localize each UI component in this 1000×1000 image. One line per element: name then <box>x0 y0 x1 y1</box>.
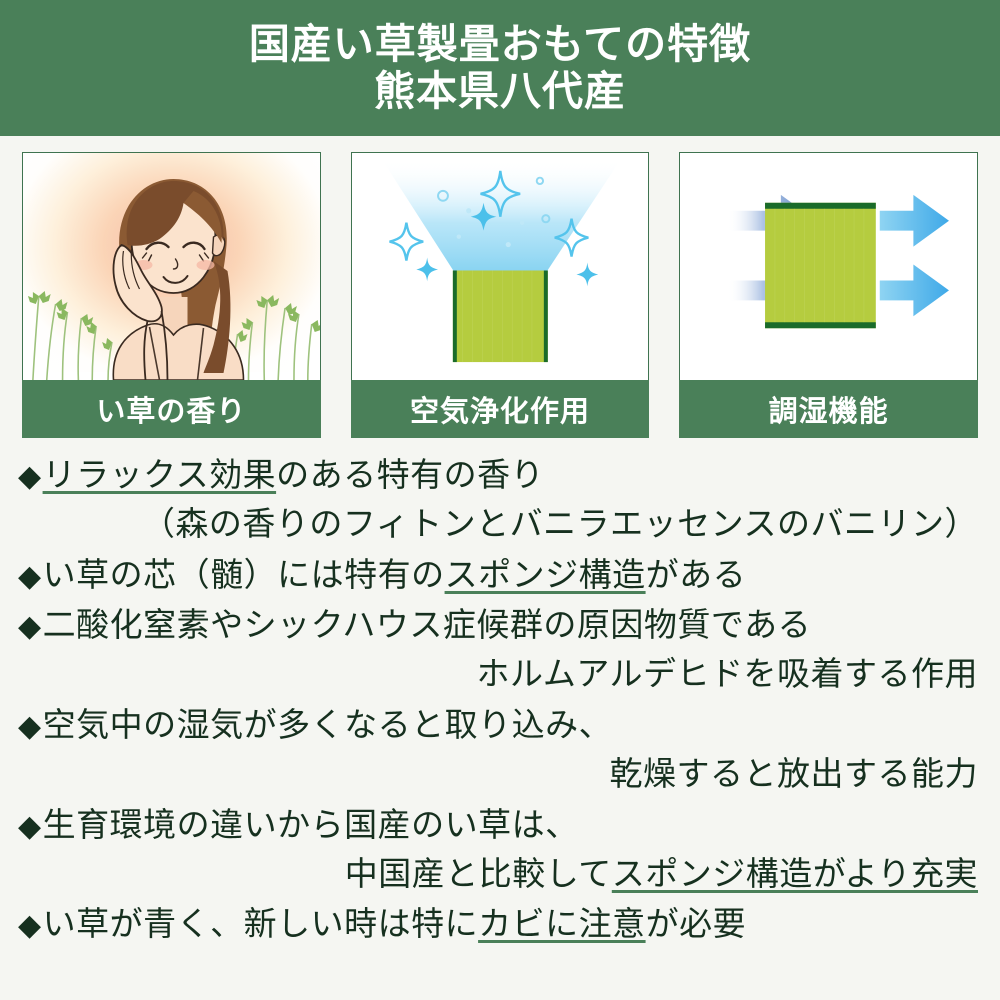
moisture-arrows-graphic <box>680 153 977 380</box>
bullet-5-highlight: スポンジ構造がより充実 <box>612 857 978 893</box>
bullet-1-tail: のある特有の香り <box>276 458 544 494</box>
bullet-2-tail: がある <box>646 558 747 594</box>
page-title-line1: 国産い草製畳おもての特徴 <box>249 21 751 68</box>
bullet-block-3: ◆二酸化窒素やシックハウス症候群の原因物質である ホルムアルデヒドを吸着する作用 <box>18 602 984 700</box>
bullet-line-2-main: ◆い草の芯（髄）には特有のスポンジ構造がある <box>18 552 984 601</box>
bullet-6-highlight: カビに注意 <box>478 907 646 943</box>
bullet-line-1-main: ◆リラックス効果のある特有の香り <box>18 452 984 501</box>
diamond-bullet-icon: ◆ <box>18 810 42 843</box>
page-title-line2: 熊本県八代産 <box>374 68 626 115</box>
bullet-line-4-main: ◆空気中の湿気が多くなると取り込み、 <box>18 702 984 751</box>
bullet-line-5-sub: 中国産と比較してスポンジ構造がより充実 <box>18 851 984 900</box>
bullet-1-highlight: リラックス効果 <box>43 458 277 494</box>
feature-card-row: い草の香り <box>0 136 1000 438</box>
diamond-bullet-icon: ◆ <box>18 460 42 493</box>
bullet-5-sub-head: 中国産と比較して <box>345 857 612 893</box>
bullet-block-6: ◆い草が青く、新しい時は特にカビに注意が必要 <box>18 901 984 950</box>
sparkle-light-graphic <box>352 153 649 380</box>
bullet-line-6-main: ◆い草が青く、新しい時は特にカビに注意が必要 <box>18 901 984 950</box>
card-label-humidity-control: 調湿機能 <box>679 380 978 438</box>
page-header: 国産い草製畳おもての特徴 熊本県八代産 <box>0 0 1000 136</box>
aroma-illustration <box>22 152 321 380</box>
bullet-4-head: 空気中の湿気が多くなると取り込み、 <box>43 708 613 744</box>
card-label-aroma: い草の香り <box>22 380 321 438</box>
card-label-air-purification: 空気浄化作用 <box>351 380 650 438</box>
feature-bullet-list: ◆リラックス効果のある特有の香り （森の香りのフィトンとバニラエッセンスのバニリ… <box>0 438 1000 950</box>
bullet-line-3-sub: ホルムアルデヒドを吸着する作用 <box>18 651 984 700</box>
bullet-block-5: ◆生育環境の違いから国産のい草は、 中国産と比較してスポンジ構造がより充実 <box>18 802 984 900</box>
bullet-line-3-main: ◆二酸化窒素やシックハウス症候群の原因物質である <box>18 602 984 651</box>
bullet-5-head: 生育環境の違いから国産のい草は、 <box>43 808 579 844</box>
bullet-6-tail: が必要 <box>646 907 747 943</box>
bullet-line-5-main: ◆生育環境の違いから国産のい草は、 <box>18 802 984 851</box>
bullet-block-2: ◆い草の芯（髄）には特有のスポンジ構造がある <box>18 552 984 601</box>
diamond-bullet-icon: ◆ <box>18 909 42 942</box>
bullet-6-head: い草が青く、新しい時は特に <box>43 907 479 943</box>
bullet-block-1: ◆リラックス効果のある特有の香り （森の香りのフィトンとバニラエッセンスのバニリ… <box>18 452 984 550</box>
diamond-bullet-icon: ◆ <box>18 610 42 643</box>
feature-card-humidity-control: 調湿機能 <box>679 152 978 438</box>
bullet-line-4-sub: 乾燥すると放出する能力 <box>18 751 984 800</box>
feature-card-aroma: い草の香り <box>22 152 321 438</box>
bullet-2-highlight: スポンジ構造 <box>445 558 646 594</box>
bullet-block-4: ◆空気中の湿気が多くなると取り込み、 乾燥すると放出する能力 <box>18 702 984 800</box>
bullet-3-head: 二酸化窒素やシックハウス症候群の原因物質である <box>43 608 812 644</box>
diamond-bullet-icon: ◆ <box>18 710 42 743</box>
woman-illustration <box>64 165 279 380</box>
air-purification-illustration <box>351 152 650 380</box>
bullet-2-head: い草の芯（髄）には特有の <box>43 558 445 594</box>
feature-card-air-purification: 空気浄化作用 <box>351 152 650 438</box>
diamond-bullet-icon: ◆ <box>18 560 42 593</box>
bullet-line-1-sub: （森の香りのフィトンとバニラエッセンスのバニリン） <box>18 501 984 550</box>
humidity-control-illustration <box>679 152 978 380</box>
